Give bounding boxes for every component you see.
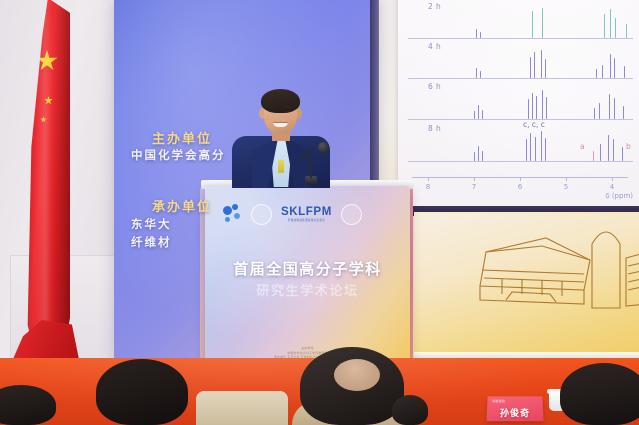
trace-6h — [408, 82, 633, 119]
speaker-badge — [278, 160, 284, 173]
x-tick-8: 8 — [426, 183, 430, 191]
x-axis-label: δ (ppm) — [605, 192, 633, 200]
name-placard: 特邀报告 孙俊奇 — [486, 396, 543, 421]
campus-illustration-banner — [414, 212, 639, 362]
photo-scene: 主办单位 中国化学会高分 承办单位 东华大 纤维材 2 h 4 h — [0, 0, 639, 425]
speaker-eyebrow-left — [268, 106, 276, 108]
speaker-eyebrow-right — [284, 106, 292, 108]
forum-title: 首届全国高分子学科 — [205, 258, 410, 279]
placard-name: 孙俊奇 — [486, 406, 543, 419]
placard-role-label: 特邀报告 — [492, 399, 505, 403]
audience-head-center-right — [392, 395, 428, 425]
audience-head-left — [96, 359, 188, 425]
podium-front-panel: SKLFPM 纤维材料改性国家重点实验室 首届全国高分子学科 研究生学术论坛 主… — [205, 186, 410, 372]
trace-8h — [408, 126, 633, 161]
molecule-logo-icon — [221, 204, 242, 225]
microphone-head-icon — [318, 142, 329, 153]
x-tick-4: 4 — [610, 183, 614, 191]
forum-subtitle: 研究生学术论坛 — [205, 280, 410, 299]
trace-4h — [408, 42, 633, 78]
organizer-name: 中国化学会高分 — [131, 147, 226, 163]
baseline-8h — [408, 161, 633, 162]
sklfpm-text: SKLFPM — [281, 207, 332, 219]
trace-2h — [408, 0, 633, 38]
x-tick-5: 5 — [564, 183, 568, 191]
institute-seal-icon — [341, 204, 362, 225]
baseline-2h — [408, 38, 633, 39]
x-tick-6: 6 — [518, 183, 522, 191]
speaker-hair — [261, 89, 300, 113]
sklfpm-wordmark: SKLFPM 纤维材料改性国家重点实验室 — [281, 207, 332, 223]
host-heading: 承办单位 — [152, 196, 212, 215]
baseline-4h — [408, 78, 633, 79]
university-seal-icon — [251, 204, 272, 225]
organizer-heading: 主办单位 — [152, 128, 212, 147]
sklfpm-subtext: 纤维材料改性国家重点实验室 — [288, 220, 325, 223]
chair-back — [196, 391, 288, 425]
audience-head-bald — [334, 359, 380, 391]
host-name: 东华大 — [131, 216, 172, 232]
baseline-6h — [408, 119, 633, 120]
host-name-2: 纤维材 — [131, 234, 172, 250]
speaker-eye-right — [285, 110, 291, 112]
speaker-eye-left — [269, 110, 275, 112]
building-illustration-right — [582, 218, 639, 314]
podium-logo-row: SKLFPM 纤维材料改性国家重点实验室 — [221, 204, 362, 225]
x-tick-7: 7 — [472, 183, 476, 191]
audience-head-far-left — [0, 385, 56, 425]
audience-head-right — [560, 363, 639, 425]
projection-screen: 2 h 4 h 6 h — [398, 0, 639, 210]
